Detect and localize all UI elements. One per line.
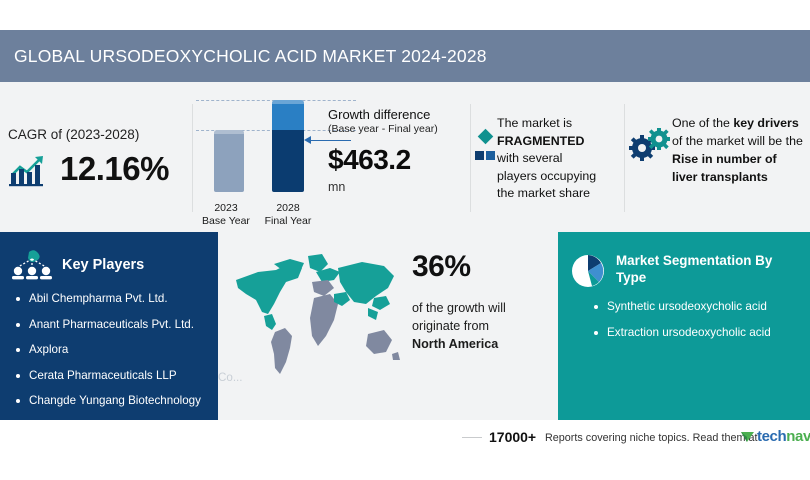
growth-difference-unit: mn bbox=[328, 180, 488, 194]
list-item: Cerata Pharmaceuticals LLP bbox=[16, 370, 218, 382]
left-arrow-icon bbox=[304, 136, 311, 144]
region-growth-percent: 36% bbox=[412, 250, 562, 284]
key-drivers-block: One of the key drivers of the market wil… bbox=[672, 115, 810, 187]
bar-label-2023: 2023 Base Year bbox=[195, 202, 257, 228]
bar-label-2023-sub: Base Year bbox=[195, 215, 257, 228]
market-segmentation-title: Market Segmentation By Type bbox=[616, 253, 800, 287]
market-segmentation-panel: Market Segmentation By Type Synthetic ur… bbox=[558, 232, 810, 420]
middle-band: Key Players Abil Chempharma Pvt. Ltd. An… bbox=[0, 232, 810, 420]
market-fragmented-text: The market is FRAGMENTED with several pl… bbox=[497, 115, 629, 203]
drivers-line-3: Rise in number of bbox=[672, 152, 777, 166]
gears-icon bbox=[628, 127, 672, 161]
technavio-arrow-icon bbox=[741, 430, 754, 443]
cagr-block: CAGR of (2023-2028) 12.16% bbox=[8, 127, 203, 188]
bar-2028-growth-segment bbox=[272, 100, 304, 130]
region-growth-text: of the growth will originate from North … bbox=[412, 300, 562, 354]
bar-label-2028: 2028 Final Year bbox=[257, 202, 319, 228]
technavio-logo[interactable]: technav bbox=[741, 428, 810, 445]
growth-difference-block: Growth difference (Base year - Final yea… bbox=[328, 107, 488, 194]
drivers-line-1b: key drivers bbox=[733, 116, 798, 130]
list-item: Anant Pharmaceuticals Pvt. Ltd. bbox=[16, 319, 218, 331]
key-players-list: Abil Chempharma Pvt. Ltd. Anant Pharmace… bbox=[16, 293, 218, 407]
key-drivers-text: One of the key drivers of the market wil… bbox=[672, 115, 810, 187]
market-segmentation-header: Market Segmentation By Type bbox=[558, 232, 810, 289]
bar-label-2028-sub: Final Year bbox=[257, 215, 319, 228]
page-title: GLOBAL URSODEOXYCHOLIC ACID MARKET 2024-… bbox=[0, 46, 487, 67]
drivers-line-2: of the market will be the bbox=[672, 134, 803, 148]
list-item: Extraction ursodeoxycholic acid bbox=[594, 327, 810, 339]
key-players-header: Key Players bbox=[0, 232, 218, 284]
region-line-2: originate from bbox=[412, 319, 489, 333]
frag-line-4: players occupying bbox=[497, 169, 596, 183]
market-fragmented-block: The market is FRAGMENTED with several pl… bbox=[497, 115, 629, 203]
key-players-title: Key Players bbox=[62, 257, 144, 273]
list-item: Changde Yungang Biotechnology bbox=[16, 395, 218, 407]
region-growth-block: 36% of the growth will originate from No… bbox=[412, 250, 562, 354]
growth-bar-chart: 2023 Base Year 2028 Final Year bbox=[196, 100, 336, 230]
footer-report-count: 17000+ bbox=[489, 429, 536, 445]
logo-text-part-1: tech bbox=[757, 428, 786, 445]
frag-line-5: the market share bbox=[497, 186, 590, 200]
growth-bar-chart-arrow-icon bbox=[8, 151, 50, 187]
frag-line-3: with several bbox=[497, 151, 562, 165]
footer-bar: 17000+ Reports covering niche topics. Re… bbox=[0, 420, 810, 480]
growth-difference-subtitle: (Base year - Final year) bbox=[328, 123, 488, 135]
world-map-icon bbox=[228, 242, 403, 392]
technavio-wordmark: technav bbox=[757, 428, 810, 445]
list-item: Synthetic ursodeoxycholic acid bbox=[594, 301, 810, 313]
growth-difference-value: $463.2 bbox=[328, 144, 488, 176]
drivers-line-1a: One of the bbox=[672, 116, 733, 130]
footer-divider bbox=[462, 437, 482, 438]
market-segmentation-list: Synthetic ursodeoxycholic acid Extractio… bbox=[594, 301, 810, 338]
header-bar: GLOBAL URSODEOXYCHOLIC ACID MARKET 2024-… bbox=[0, 30, 810, 82]
cagr-value: 12.16% bbox=[60, 150, 169, 188]
diamond-squares-icon bbox=[474, 127, 496, 173]
region-line-3: North America bbox=[412, 337, 498, 351]
drivers-line-4: liver transplants bbox=[672, 170, 768, 184]
top-stats-band: CAGR of (2023-2028) 12.16% bbox=[0, 82, 810, 232]
growth-difference-title: Growth difference bbox=[328, 107, 488, 122]
logo-text-part-2: nav bbox=[786, 428, 810, 445]
bar-label-2023-year: 2023 bbox=[195, 202, 257, 215]
bar-2028-cap bbox=[272, 100, 304, 104]
bar-label-2028-year: 2028 bbox=[257, 202, 319, 215]
region-line-1: of the growth will bbox=[412, 301, 506, 315]
infographic-page: GLOBAL URSODEOXYCHOLIC ACID MARKET 2024-… bbox=[0, 0, 810, 480]
bar-2023 bbox=[214, 130, 244, 192]
cagr-label: CAGR of (2023-2028) bbox=[8, 127, 203, 142]
key-players-panel: Key Players Abil Chempharma Pvt. Ltd. An… bbox=[0, 232, 218, 420]
footer-tagline: Reports covering niche topics. Read them… bbox=[545, 432, 757, 444]
pie-chart-icon bbox=[570, 253, 606, 289]
network-people-icon bbox=[9, 246, 55, 284]
frag-line-1: The market is bbox=[497, 116, 572, 130]
frag-line-2: FRAGMENTED bbox=[497, 134, 584, 148]
bar-2028-base-segment bbox=[272, 130, 304, 192]
list-item: Axplora bbox=[16, 344, 218, 356]
list-item: Abil Chempharma Pvt. Ltd. bbox=[16, 293, 218, 305]
bar-2023-cap bbox=[214, 130, 244, 134]
